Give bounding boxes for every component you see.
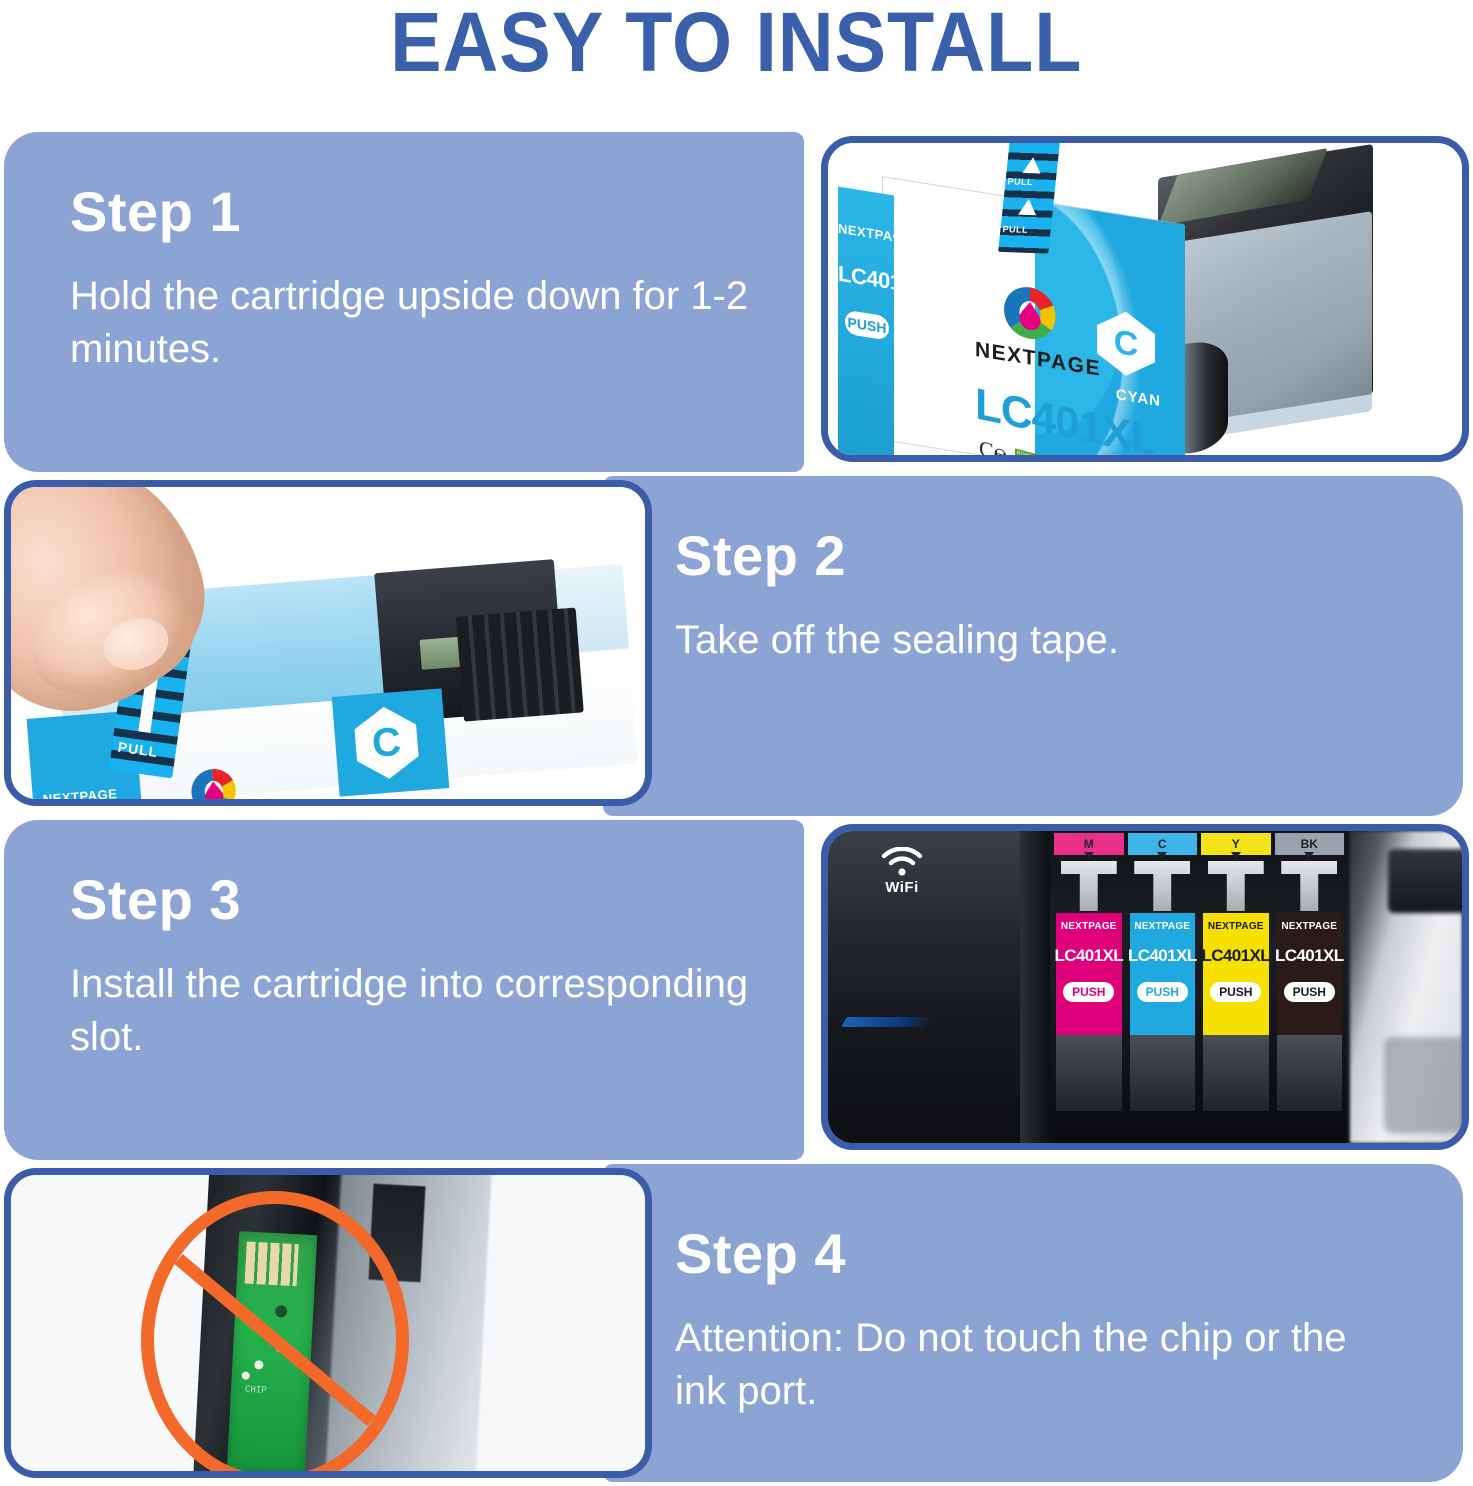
cartridge-body bbox=[1203, 1035, 1269, 1111]
step-1-description: Hold the cartridge upside down for 1-2 m… bbox=[70, 270, 750, 376]
do-not-touch-chip-photo: CHIP bbox=[11, 1175, 645, 1471]
slot-label-bk: BK bbox=[1275, 833, 1345, 855]
step-row-2: Step 2 Take off the sealing tape. C NEXT… bbox=[0, 476, 1473, 816]
step-1-caption-panel: Step 1 Hold the cartridge upside down fo… bbox=[4, 132, 804, 472]
cartridge-brand: NEXTPAGE bbox=[1281, 921, 1337, 932]
cartridge-push: PUSH bbox=[1063, 982, 1114, 1002]
ce-mark-icon: C℮ bbox=[979, 435, 1007, 455]
background-object-top bbox=[1388, 849, 1462, 913]
wifi-label: WiFi bbox=[885, 879, 919, 896]
cartridge-model: LC401XL bbox=[1128, 946, 1197, 966]
cartridge-brand: NEXTPAGE bbox=[1208, 921, 1264, 932]
installed-cartridges: NEXTPAGE LC401XL PUSH NEXTPAGE LC401XL P… bbox=[1054, 861, 1344, 1111]
page-title: EASY TO INSTALL bbox=[390, 0, 1082, 84]
step-row-3: Step 3 Install the cartridge into corres… bbox=[0, 820, 1473, 1160]
cartridge-model: LC401XL bbox=[1201, 946, 1270, 966]
nextpage-logo-icon bbox=[1001, 280, 1059, 347]
step-row-4: Step 4 Attention: Do not touch the chip … bbox=[0, 1164, 1473, 1482]
printer-led-strip bbox=[841, 1017, 933, 1027]
pull-label-bottom: PULL bbox=[1002, 224, 1029, 235]
cartridge-side-band: NEXTPAGE LC401XL PUSH bbox=[838, 187, 894, 455]
step-row-1: Step 1 Hold the cartridge upside down fo… bbox=[0, 132, 1473, 472]
cartridge-label: NEXTPAGE LC401XL PUSH bbox=[1203, 913, 1269, 1035]
step-1-photo-frame: NEXTPAGE LC401XL C℮ ROHS ISO 9001 RECYCL… bbox=[821, 136, 1469, 462]
side-brand-text: NEXTPAGE bbox=[838, 221, 894, 245]
cartridge-body bbox=[1130, 1035, 1196, 1111]
cartridge-yellow: NEXTPAGE LC401XL PUSH bbox=[1201, 861, 1271, 1111]
pull-label-top: PULL bbox=[1007, 176, 1034, 187]
step-2-photo-frame: C NEXTPAGE PULL bbox=[4, 480, 652, 806]
step-1-title: Step 1 bbox=[70, 184, 804, 240]
step-3-description: Install the cartridge into corresponding… bbox=[70, 958, 750, 1064]
cartridge-grip bbox=[1281, 861, 1337, 911]
cartridge-model: LC401XL bbox=[1275, 946, 1344, 966]
printer-slots-photo: WiFi M C Y BK NEXTPAGE LC40 bbox=[828, 831, 1462, 1143]
printer-body-left: WiFi bbox=[828, 831, 1020, 1143]
push-tab-label: PUSH bbox=[845, 310, 889, 341]
cartridge-magenta: NEXTPAGE LC401XL PUSH bbox=[1054, 861, 1124, 1111]
cartridge-grip bbox=[1208, 861, 1264, 911]
step-2-caption-panel: Step 2 Take off the sealing tape. bbox=[603, 476, 1463, 816]
wifi-indicator: WiFi bbox=[880, 847, 924, 897]
cartridge-body bbox=[1277, 1035, 1343, 1111]
step-2-title: Step 2 bbox=[675, 528, 1463, 584]
side-model-text: LC401XL bbox=[838, 261, 894, 296]
pull-label: PULL bbox=[117, 739, 159, 760]
cartridge-label: NEXTPAGE LC401XL PUSH bbox=[1277, 913, 1343, 1035]
hand-pulling-tape-photo: C NEXTPAGE PULL bbox=[11, 487, 645, 799]
nextpage-logo-icon bbox=[187, 765, 241, 799]
slot-label-m: M bbox=[1054, 833, 1124, 855]
cartridge-push: PUSH bbox=[1137, 982, 1188, 1002]
background-object-bottom bbox=[1384, 1037, 1462, 1133]
cartridge-label: NEXTPAGE LC401XL PUSH bbox=[1130, 913, 1196, 1035]
cartridge-brand: NEXTPAGE bbox=[1061, 921, 1117, 932]
color-letter-badge: C bbox=[353, 704, 420, 781]
cartridge-body bbox=[1056, 1035, 1122, 1111]
cartridge-black: NEXTPAGE LC401XL PUSH bbox=[1275, 861, 1345, 1111]
step-4-caption-panel: Step 4 Attention: Do not touch the chip … bbox=[603, 1164, 1463, 1482]
step-4-title: Step 4 bbox=[675, 1226, 1463, 1282]
cyan-cartridge-photo: NEXTPAGE LC401XL C℮ ROHS ISO 9001 RECYCL… bbox=[828, 143, 1462, 455]
cartridge-push: PUSH bbox=[1284, 982, 1335, 1002]
page-header: EASY TO INSTALL bbox=[0, 0, 1473, 90]
cartridge-cyan: NEXTPAGE LC401XL PUSH bbox=[1128, 861, 1198, 1111]
slot-label-row: M C Y BK bbox=[1054, 833, 1344, 855]
slot-label-y: Y bbox=[1201, 833, 1271, 855]
pull-arrow-icon-2 bbox=[1018, 199, 1038, 216]
cartridge-grip bbox=[1134, 861, 1190, 911]
cartridge-carriage: M C Y BK NEXTPAGE LC401XL PUSH bbox=[1050, 831, 1350, 1143]
printer-divider bbox=[1020, 831, 1050, 1143]
wifi-icon bbox=[880, 847, 924, 877]
cartridge-blue-band: C bbox=[332, 688, 450, 796]
cartridge-fins bbox=[456, 608, 584, 722]
step-4-description: Attention: Do not touch the chip or the … bbox=[675, 1312, 1375, 1418]
step-4-photo-frame: CHIP bbox=[4, 1168, 652, 1478]
step-2-description: Take off the sealing tape. bbox=[675, 614, 1375, 667]
cartridge-grip bbox=[1061, 861, 1117, 911]
pull-arrow-icon bbox=[1022, 157, 1042, 174]
step-3-caption-panel: Step 3 Install the cartridge into corres… bbox=[4, 820, 804, 1160]
cartridge-brand: NEXTPAGE bbox=[1134, 921, 1190, 932]
cartridge-push: PUSH bbox=[1210, 982, 1261, 1002]
prohibition-icon bbox=[141, 1191, 409, 1471]
cartridge-label: NEXTPAGE LC401XL PUSH bbox=[1056, 913, 1122, 1035]
step-3-title: Step 3 bbox=[70, 872, 804, 928]
slot-label-c: C bbox=[1128, 833, 1198, 855]
step-3-photo-frame: WiFi M C Y BK NEXTPAGE LC40 bbox=[821, 824, 1469, 1150]
cartridge-model: LC401XL bbox=[1054, 946, 1123, 966]
